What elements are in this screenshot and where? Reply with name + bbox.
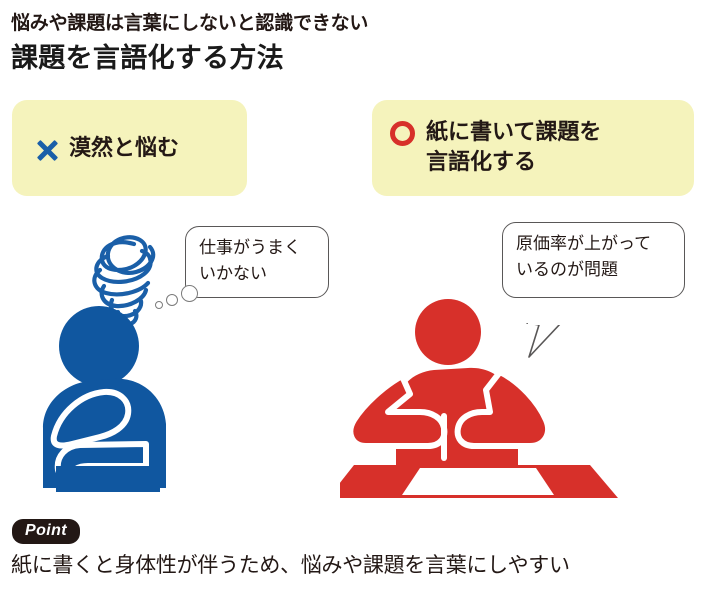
- panel-positive: 紙に書いて課題を 言語化する: [372, 100, 694, 196]
- point-description: 紙に書くと身体性が伴うため、悩みや課題を言葉にしやすい: [11, 549, 570, 579]
- person-writing-illustration: [340, 290, 640, 500]
- panel-positive-label: 紙に書いて課題を 言語化する: [426, 117, 601, 177]
- paper: [402, 468, 554, 495]
- thought-bubble-left: 仕事がうまく いかない: [185, 226, 329, 298]
- speech-bubble-right: 原価率が上がって いるのが問題: [502, 222, 685, 298]
- panel-negative: 漠然と悩む: [12, 100, 247, 196]
- speech-bubble-tail: [525, 297, 567, 331]
- point-badge: Point: [12, 519, 80, 544]
- panel-negative-label: 漠然と悩む: [69, 133, 179, 163]
- x-mark-icon: [34, 137, 60, 163]
- infographic-canvas: 悩みや課題は言葉にしないと認識できない 課題を言語化する方法 漠然と悩む 紙に書…: [0, 0, 710, 591]
- thought-dot-large: [181, 285, 198, 302]
- thought-dot-small: [155, 301, 163, 309]
- circle-mark-icon: [390, 121, 415, 146]
- kicker-text: 悩みや課題は言葉にしないと認識できない: [11, 8, 368, 35]
- thought-dot-medium: [166, 294, 178, 306]
- page-title: 課題を言語化する方法: [11, 36, 284, 75]
- desk: [340, 465, 618, 498]
